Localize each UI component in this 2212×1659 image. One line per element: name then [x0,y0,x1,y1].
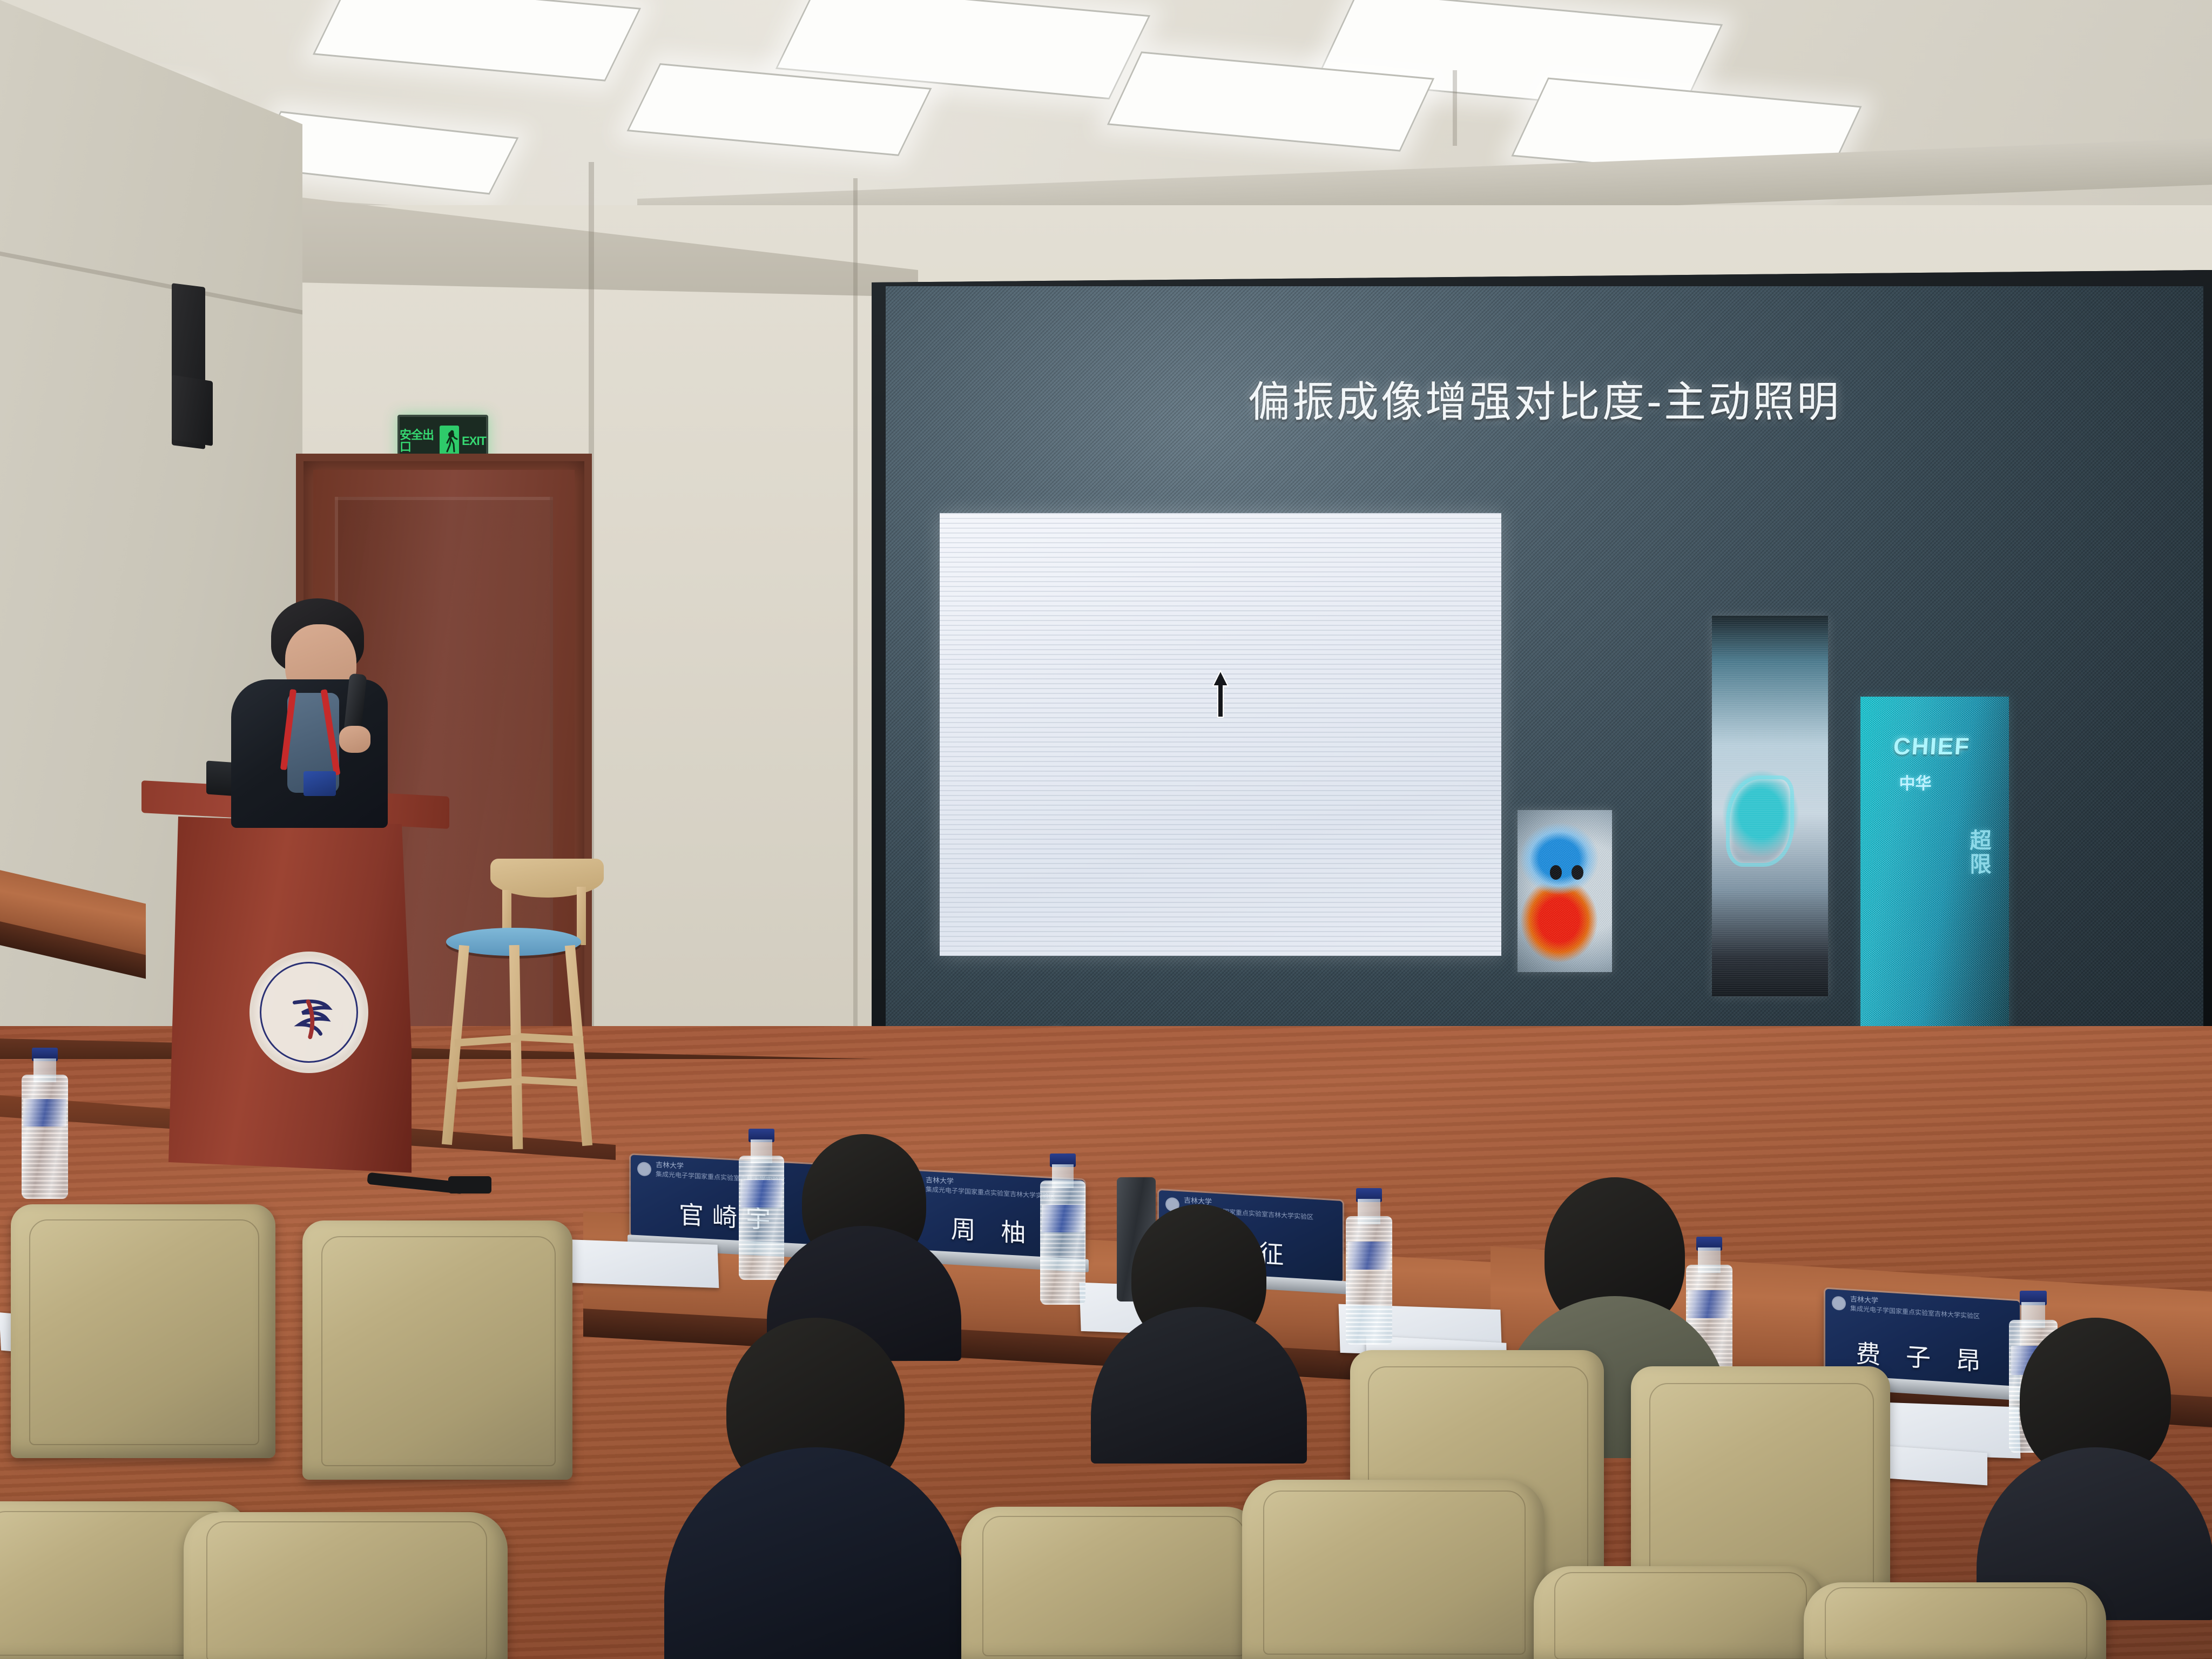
water-bottle [22,1048,68,1199]
wall-seam [853,178,858,1064]
bottle-label [23,1099,66,1126]
floor-cable-connector [448,1176,491,1193]
auditorium-seat[interactable] [1534,1566,1825,1659]
water-bottle [1040,1154,1085,1305]
bottle-body [1040,1181,1085,1305]
screen-display-surface[interactable]: 偏振成像增强对比度-主动照明 CHIEF 中华 超限 [886,286,2203,1066]
exit-sign-chinese-label: 安全出口 [400,429,437,453]
slide-image-chief[interactable]: CHIEF 中华 超限 [1860,697,2009,1064]
running-man-glyph [445,429,458,454]
auditorium-seat[interactable] [1804,1582,2106,1659]
presenter-hand [339,726,370,753]
stool-leg [565,945,592,1146]
chief-vertical-label: 超限 [1963,829,1994,876]
wall-seam [1453,70,1457,146]
university-emblem [249,952,368,1073]
stool-leg [577,887,586,945]
stool-rung [520,1076,584,1087]
chief-sublabel: 中华 [1899,770,1932,794]
slide-image-vase[interactable] [1712,616,1828,996]
water-bottle [1346,1188,1392,1345]
running-man-icon [440,426,459,457]
chief-label: CHIEF [1892,733,1971,760]
audience-member [1091,1204,1307,1464]
podium-body [168,817,412,1173]
auditorium-seat[interactable] [1242,1480,1545,1659]
bottle-body [1346,1216,1392,1345]
auditorium-seat[interactable] [961,1507,1264,1659]
exit-sign-english-label: EXIT [462,435,486,447]
auditorium-seat[interactable] [302,1220,572,1480]
emblem-swoosh-icon [284,992,336,1045]
podium [141,788,449,1199]
stool-leg [509,945,523,1149]
bottle-label [1347,1242,1390,1270]
slide-main-video-panel[interactable] [940,513,1501,956]
nameplate-logo-icon [1832,1296,1846,1311]
led-display-screen[interactable]: 偏振成像增强对比度-主动照明 CHIEF 中华 超限 [872,270,2212,1080]
up-arrow-icon [1212,670,1229,719]
nameplate-logo-icon [637,1162,651,1176]
slide-title: 偏振成像增强对比度-主动照明 [886,368,2203,429]
auditorium-seat[interactable] [11,1204,275,1458]
bar-stool[interactable] [432,859,610,1150]
bottle-body [22,1075,68,1199]
auditorium-seat[interactable] [184,1512,508,1659]
slide-image-robot[interactable] [1518,810,1612,972]
wall-speaker-bracket [172,375,213,446]
audience-shoulders [1091,1307,1307,1464]
stool-rung [455,1035,520,1047]
bottle-label [1042,1205,1083,1232]
presenter-badge [304,771,336,796]
conference-room-scene: 安全出口 EXIT 偏振成像增强对比度-主动照明 [0,0,2212,1659]
presenter [221,598,394,825]
